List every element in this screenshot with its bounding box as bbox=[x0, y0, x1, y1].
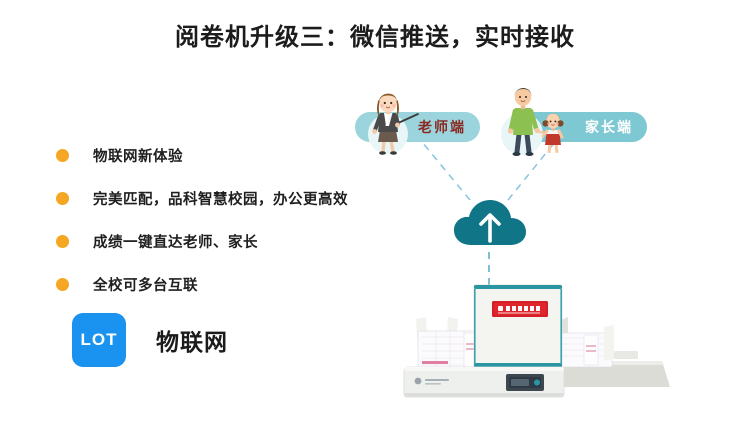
list-item: 全校可多台互联 bbox=[56, 265, 386, 303]
connection-diagram: 老师端 家长端 bbox=[340, 60, 740, 410]
bullet-text: 物联网新体验 bbox=[93, 145, 183, 166]
parent-figure-illustration bbox=[492, 82, 582, 160]
iot-label: 物联网 bbox=[156, 323, 228, 357]
iot-badge-text: LOT bbox=[81, 330, 118, 350]
iot-badge-icon: LOT bbox=[72, 313, 126, 367]
bullet-dot-icon bbox=[56, 235, 69, 248]
cloud-upload-icon bbox=[452, 193, 528, 251]
omr-scanner-machine bbox=[378, 275, 678, 410]
list-item: 完美匹配，品科智慧校园，办公更高效 bbox=[56, 179, 386, 217]
bullet-text: 成绩一键直达老师、家长 bbox=[93, 231, 258, 252]
bullet-text: 完美匹配，品科智慧校园，办公更高效 bbox=[93, 188, 348, 209]
bullet-dot-icon bbox=[56, 278, 69, 291]
bullet-list: 物联网新体验 完美匹配，品科智慧校园，办公更高效 成绩一键直达老师、家长 全校可… bbox=[56, 136, 386, 308]
bullet-dot-icon bbox=[56, 192, 69, 205]
badge-parent-label: 家长端 bbox=[585, 117, 633, 137]
list-item: 物联网新体验 bbox=[56, 136, 386, 174]
iot-badge-group: LOT 物联网 bbox=[72, 313, 228, 367]
page-title: 阅卷机升级三：微信推送，实时接收 bbox=[0, 17, 750, 52]
list-item: 成绩一键直达老师、家长 bbox=[56, 222, 386, 260]
bullet-text: 全校可多台互联 bbox=[93, 274, 198, 295]
bullet-dot-icon bbox=[56, 149, 69, 162]
teacher-figure-illustration bbox=[358, 86, 430, 158]
